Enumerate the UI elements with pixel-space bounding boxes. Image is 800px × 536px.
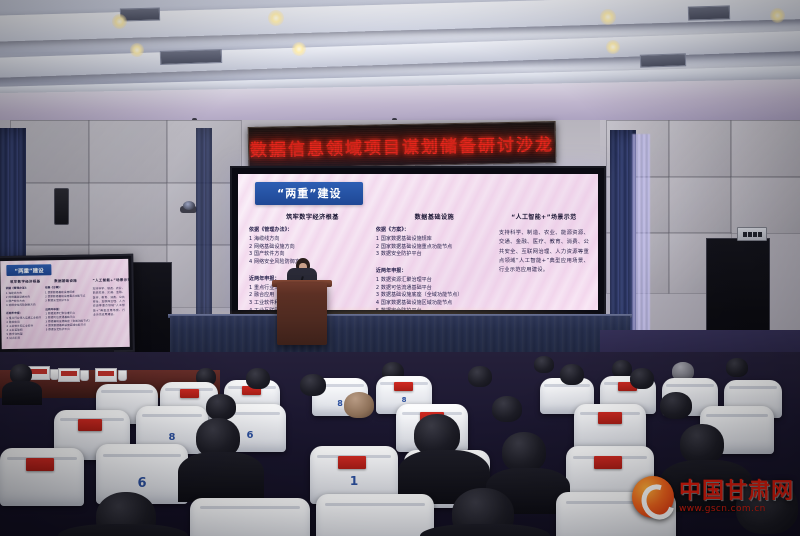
column-heading: 数据基础设施 [45,278,87,284]
water-cup [50,369,59,380]
side-column-2: 数据基础设施 依据《方案》： 1 国家数据基础设施规库 2 国家数据基础设施重点… [45,278,88,340]
led-banner-text: 数据信息领域项目谋划储备研讨沙龙 [250,130,554,161]
block-item: 4 网络安全风险防御方向 [249,259,376,267]
side-column-1: 筑牢数字经济根基 依据《管理办法》： 1 海缆线方向 2 网络基础设施方向 3 … [6,278,46,340]
seat-name-card [78,419,102,431]
audience-head [630,368,654,389]
column-block: 近两年申报： 1 数据资源汇聚治理平台 2 数据可信流通基础平台 3 数据基础设… [376,268,493,310]
water-cup [80,370,89,381]
name-tent-card [95,368,117,382]
block-item: 1 数据资源汇聚治理平台 [376,277,493,285]
ceiling-downlight [606,40,620,54]
audience-seat [0,448,84,506]
ceiling-downlight [770,8,785,23]
column-block: 依据《管理办法》： 1 海缆线方向 2 网络基础设施方向 3 国产软件方向 4 … [249,227,376,267]
block-item: 6 试点示范 [7,336,46,341]
watermark-url: www.gscn.com.cn [679,505,794,514]
seat-number: 6 [96,476,188,491]
audience-head [246,368,270,389]
side-monitor: “两重”建设 筑牢数字经济根基 依据《管理办法》： 1 海缆线方向 2 网络基础… [0,254,135,354]
seat-name-card [594,456,622,469]
slide-title: “两重”建设 [255,182,363,205]
block-item: 3 数据基础设施底座（全域功能节点） [376,292,493,300]
block-item: 3 国产软件方向 [249,251,376,259]
ceiling-downlight [600,9,616,25]
block-item: 5 数据安全防护平台 [46,328,88,333]
audience-head [680,424,724,464]
side-column-3: “人工智能+”场景示范 支持科学、制造、农业、能源资源、交通、金融、医疗、教育、… [86,277,125,339]
audience-seat [574,404,646,452]
column-heading: “人工智能+”场景示范 [499,212,589,221]
seat-number: 1 [310,474,398,488]
seat-name-card [26,458,54,471]
side-monitor-slide: “两重”建设 筑牢数字经济根基 依据《管理办法》： 1 海缆线方向 2 网络基础… [0,259,130,349]
ceiling-vent [640,53,686,68]
audience-head [300,374,326,396]
audience-shoulders [420,524,550,536]
led-banner: 数据信息领域项目谋划储备研讨沙龙 [248,121,557,169]
column-heading: 筑牢数字经济根基 [6,278,45,284]
ceiling-downlight [130,43,144,57]
conference-hall-photo: 数据信息领域项目谋划储备研讨沙龙 “两重”建设 筑牢数字经济根基 依据《管理办法… [0,0,800,536]
audience-head [502,432,546,472]
name-tent-card [58,368,80,382]
audience-shoulders [58,524,188,536]
wall-panel [730,120,800,178]
slide-column-3: “人工智能+”场景示范 支持科学、制造、农业、能源资源、交通、金融、医疗、教育、… [493,212,589,308]
water-cup [118,370,127,381]
ceiling-downlight [112,14,127,29]
audience-shoulders [178,452,264,502]
wall-panel [730,176,800,234]
watermark-text: 中国甘肃网 www.gscn.com.cn [679,481,794,514]
audience-head [468,366,492,387]
blue-wall-glow [632,134,650,348]
seat-name-card [338,456,366,469]
audience-seat [316,494,434,536]
room-sign [737,227,767,241]
block-item: 3 数据安全防护平台 [376,251,493,259]
column-heading: “人工智能+”场景示范 [92,277,124,283]
column-heading: 筑牢数字经济根基 [249,212,376,221]
audience-head [206,394,236,420]
ceiling-vent [688,5,730,20]
seat-number: 8 [376,396,432,404]
audience-head [534,356,554,373]
watermark-name: 中国甘肃网 [679,481,794,503]
block-item: 1 国家数据基础设施规库 [376,236,493,244]
ceiling-downlight [292,42,306,56]
audience-seat [190,498,310,536]
ceiling-vent [160,49,222,65]
wall-panel [88,182,168,246]
block-item: 3 数据安全防护平台 [45,298,87,303]
column-paragraph: 支持科学、制造、农业、能源资源、交通、金融、医疗、教育、消费、公共安全、互联网治… [93,286,126,317]
audience-head [726,358,748,377]
audience-shoulders [2,381,42,405]
wall-speaker-icon [54,188,69,225]
seat-name-card [394,382,413,391]
column-paragraph: 支持科学、制造、农业、能源资源、交通、金融、医疗、教育、消费、公共安全、互联网治… [499,229,589,275]
side-slide-title: “两重”建设 [6,264,51,276]
camera-icon [180,206,197,213]
ceiling-downlight [268,10,284,26]
wall-panel [668,176,732,234]
seat-name-card [180,389,199,398]
audience-head [492,396,522,422]
block-item: 1 海缆线方向 [249,236,376,244]
column-block: 依据《方案》： 1 国家数据基础设施规库 2 国家数据基础设施重点功能节点 3 … [376,227,493,259]
seat-name-card [598,412,622,424]
wall-panel [668,120,732,178]
watermark: 中国甘肃网 www.gscn.com.cn [632,476,794,518]
audience-head [560,364,584,385]
column-block: 依据《管理办法》： 1 海缆线方向 2 网络基础设施方向 3 国产软件方向 4 … [6,286,46,307]
block-label: 依据《方案》： [45,286,87,291]
block-item: 4 网络安全风险防御方向 [6,303,45,308]
audience-head [344,392,374,418]
column-heading: 数据基础设施 [376,212,493,221]
podium [277,283,327,345]
column-block: 近两年申报： 1 重点行业深入实施工业软件 2 融合应用 3 工业软件和工业软件… [6,312,46,341]
block-label: 依据《方案》： [376,227,493,235]
blue-wall-column [196,128,212,318]
side-slide-columns: 筑牢数字经济根基 依据《管理办法》： 1 海缆线方向 2 网络基础设施方向 3 … [6,277,126,341]
wall-panel [88,120,168,184]
block-label: 依据《管理办法》： [249,227,376,235]
gscn-logo-icon [632,476,674,518]
block-label: 依据《管理办法》： [6,286,45,291]
column-block: 近两年申报： 1 数据资源汇聚治理平台 2 数据可信流通基础平台 3 数据基础设… [45,307,87,332]
column-block: 依据《方案》： 1 国家数据基础设施规库 2 国家数据基础设施重点功能节点 3 … [45,286,87,303]
audience-head [660,392,692,419]
block-label: 近两年申报： [376,268,493,276]
slide-column-2: 数据基础设施 依据《方案》： 1 国家数据基础设施规库 2 国家数据基础设施重点… [376,212,493,308]
